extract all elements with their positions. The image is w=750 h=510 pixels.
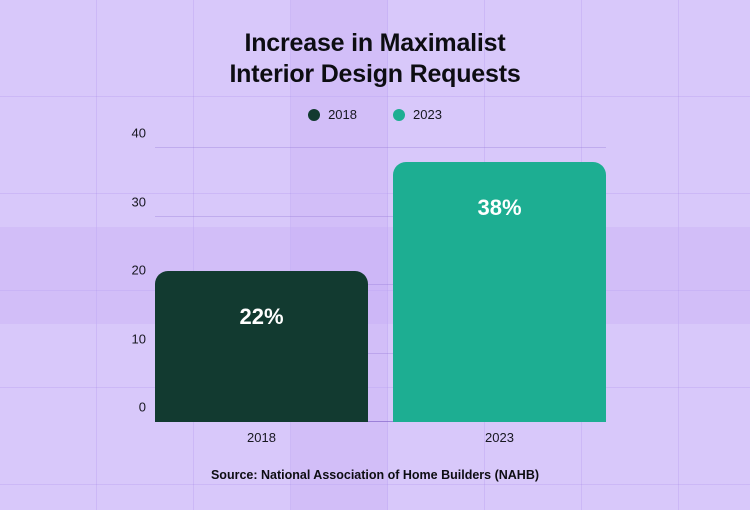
- legend-item-2023: 2023: [393, 107, 442, 122]
- bar-2018[interactable]: 22% 2018: [155, 271, 368, 422]
- x-axis-tick-2023: 2023: [393, 430, 606, 445]
- legend-circle-icon: [308, 109, 320, 121]
- y-axis-tick-30: 30: [132, 194, 146, 209]
- bar-2023[interactable]: 38% 2023: [393, 162, 606, 422]
- chart-legend: 2018 2023: [0, 107, 750, 122]
- legend-circle-icon: [393, 109, 405, 121]
- legend-label-2018: 2018: [328, 107, 357, 122]
- y-axis-tick-0: 0: [139, 400, 146, 415]
- plot-area: 0 10 20 30 40 22% 2018 38% 2023: [155, 138, 606, 422]
- chart-title: Increase in Maximalist Interior Design R…: [0, 28, 750, 90]
- gridline-40: [155, 147, 606, 148]
- legend-label-2023: 2023: [413, 107, 442, 122]
- y-axis-tick-20: 20: [132, 263, 146, 278]
- infographic-canvas: Increase in Maximalist Interior Design R…: [0, 0, 750, 510]
- y-axis-tick-40: 40: [132, 126, 146, 141]
- x-axis-tick-2018: 2018: [155, 430, 368, 445]
- chart-title-line-2: Interior Design Requests: [0, 59, 750, 90]
- bar-value-label-2018: 22%: [155, 304, 368, 330]
- source-caption: Source: National Association of Home Bui…: [0, 468, 750, 482]
- y-axis-tick-10: 10: [132, 331, 146, 346]
- chart-title-line-1: Increase in Maximalist: [0, 28, 750, 59]
- legend-item-2018: 2018: [308, 107, 357, 122]
- bar-value-label-2023: 38%: [393, 195, 606, 221]
